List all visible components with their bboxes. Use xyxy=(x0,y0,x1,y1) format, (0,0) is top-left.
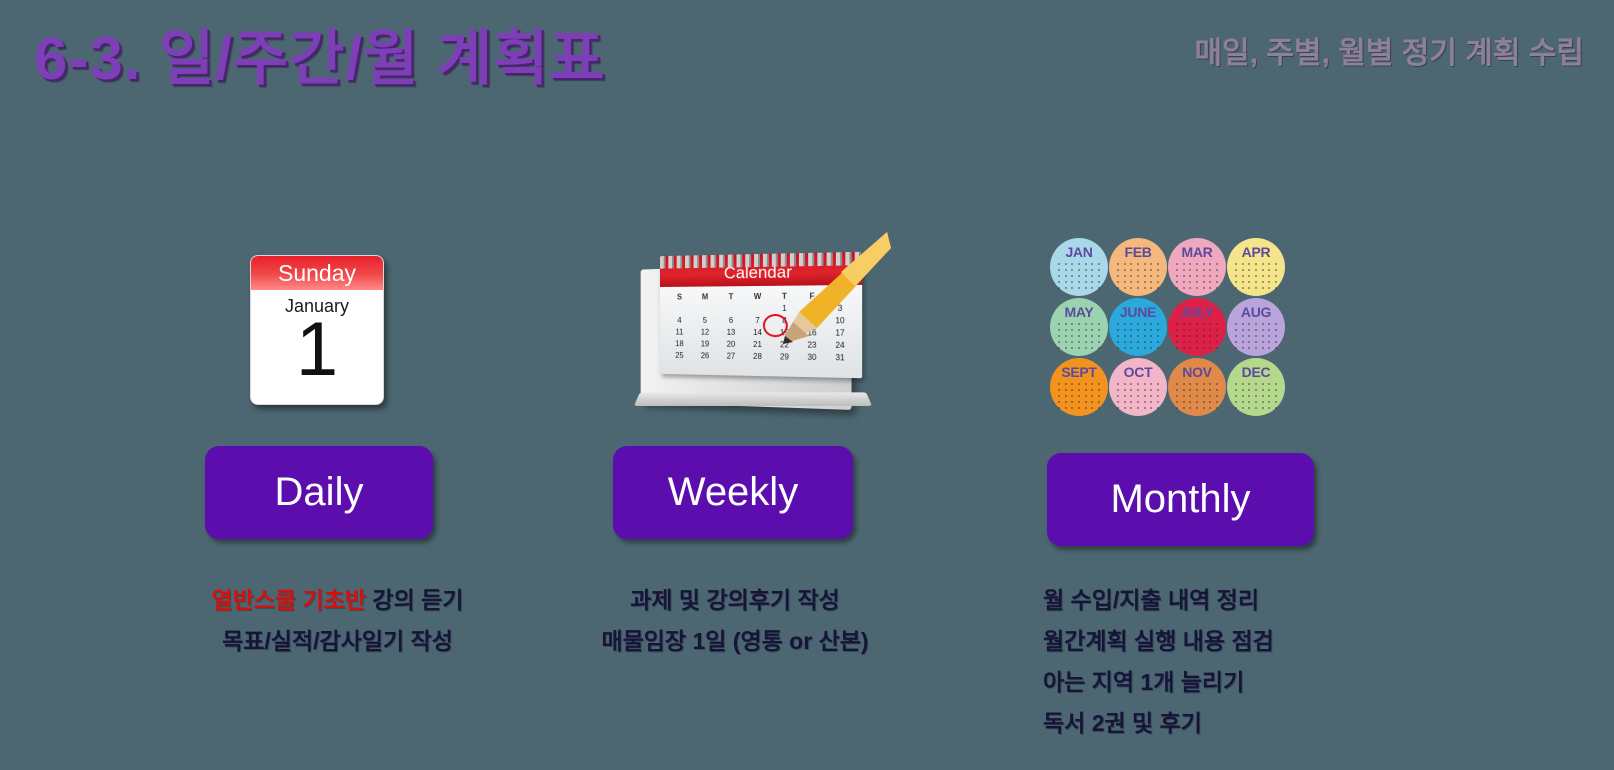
month-label: JUNE xyxy=(1120,305,1156,319)
calendar-date-cell xyxy=(669,304,689,313)
weekly-art-area: Calendar SMTWTFS 12345678910111213141516… xyxy=(590,230,920,415)
calendar-date-cell: 11 xyxy=(669,328,689,337)
note-line: 아는 지역 1개 늘리기 xyxy=(1043,662,1274,703)
calendar-date-cell xyxy=(720,304,741,313)
note-line: 과제 및 강의후기 작성 xyxy=(590,580,880,621)
month-date-dots xyxy=(1174,381,1220,411)
calendar-date-cell xyxy=(695,304,716,313)
calendar-date-cell: 12 xyxy=(695,328,716,337)
month-circle: DEC xyxy=(1227,358,1285,416)
month-label: OCT xyxy=(1124,365,1153,379)
pencil-icon xyxy=(763,232,891,350)
month-circle: JAN xyxy=(1050,238,1108,296)
monthly-notes: 월 수입/지출 내역 정리월간계획 실행 내용 점검아는 지역 1개 늘리기독서… xyxy=(1043,580,1274,744)
calendar-weekday-cell: S xyxy=(669,293,689,302)
calendar-date-cell: 4 xyxy=(669,316,689,325)
calendar-date-cell: 27 xyxy=(720,352,741,361)
month-label: FEB xyxy=(1124,245,1151,259)
month-label: MAY xyxy=(1065,305,1094,319)
month-date-dots xyxy=(1174,321,1220,351)
calendar-date-cell: 19 xyxy=(695,339,716,348)
month-label: JAN xyxy=(1065,245,1092,259)
daily-calendar-weekday: Sunday xyxy=(251,256,383,290)
month-date-dots xyxy=(1233,261,1279,291)
note-line: 목표/실적/감사일기 작성 xyxy=(205,621,470,662)
monthly-calendar-icon: JANFEBMARAPRMAYJUNEJULYAUGSEPTOCTNOVDEC xyxy=(1050,238,1285,416)
monthly-art-area: JANFEBMARAPRMAYJUNEJULYAUGSEPTOCTNOVDEC xyxy=(1020,230,1360,415)
month-circle: JULY xyxy=(1168,298,1226,356)
calendar-date-cell: 20 xyxy=(720,340,741,349)
daily-notes: 열반스쿨 기초반 강의 듣기목표/실적/감사일기 작성 xyxy=(205,580,470,662)
month-date-dots xyxy=(1115,261,1161,291)
monthly-button[interactable]: Monthly xyxy=(1047,453,1314,546)
month-date-dots xyxy=(1233,381,1279,411)
month-label: NOV xyxy=(1182,365,1211,379)
column-weekly: Calendar SMTWTFS 12345678910111213141516… xyxy=(590,230,920,415)
month-circle: MAY xyxy=(1050,298,1108,356)
note-line: 독서 2권 및 후기 xyxy=(1043,703,1274,744)
month-date-dots xyxy=(1056,381,1102,411)
calendar-date-cell: 28 xyxy=(747,352,769,361)
calendar-date-cell: 5 xyxy=(695,316,716,325)
month-circle: MAR xyxy=(1168,238,1226,296)
note-line: 열반스쿨 기초반 강의 듣기 xyxy=(205,580,470,621)
month-circle: AUG xyxy=(1227,298,1285,356)
calendar-date-cell: 18 xyxy=(669,339,689,348)
note-line: 월 수입/지출 내역 정리 xyxy=(1043,580,1274,621)
month-date-dots xyxy=(1056,321,1102,351)
month-date-dots xyxy=(1056,261,1102,291)
calendar-date-cell: 29 xyxy=(773,352,795,361)
column-monthly: JANFEBMARAPRMAYJUNEJULYAUGSEPTOCTNOVDEC xyxy=(1020,230,1360,415)
month-date-dots xyxy=(1174,261,1220,291)
calendar-base xyxy=(634,392,872,406)
month-circle: FEB xyxy=(1109,238,1167,296)
calendar-weekday-cell: M xyxy=(695,292,716,301)
calendar-date-cell: 31 xyxy=(829,353,852,363)
weekly-notes: 과제 및 강의후기 작성매물임장 1일 (영통 or 산본) xyxy=(590,580,880,662)
calendar-date-cell: 25 xyxy=(669,351,689,360)
column-daily: Sunday January 1 xyxy=(175,230,505,415)
month-label: DEC xyxy=(1242,365,1271,379)
month-circle: SEPT xyxy=(1050,358,1108,416)
daily-art-area: Sunday January 1 xyxy=(175,230,505,415)
note-highlight: 열반스쿨 기초반 xyxy=(212,587,367,613)
daily-calendar-day: 1 xyxy=(251,311,383,389)
month-label: APR xyxy=(1242,245,1271,259)
weekly-button[interactable]: Weekly xyxy=(613,446,853,539)
month-label: MAR xyxy=(1182,245,1213,259)
month-date-dots xyxy=(1233,321,1279,351)
page-title: 6-3. 일/주간/월 계획표 xyxy=(34,10,605,97)
calendar-date-cell: 13 xyxy=(720,328,741,337)
month-circle: NOV xyxy=(1168,358,1226,416)
note-line: 매물임장 1일 (영통 or 산본) xyxy=(590,621,880,662)
calendar-date-cell: 6 xyxy=(720,316,741,325)
month-label: SEPT xyxy=(1061,365,1096,379)
month-date-dots xyxy=(1115,321,1161,351)
calendar-weekday-cell: T xyxy=(720,292,741,301)
daily-button[interactable]: Daily xyxy=(205,446,433,539)
note-line: 월간계획 실행 내용 점검 xyxy=(1043,621,1274,662)
calendar-date-cell: 26 xyxy=(695,351,716,360)
month-date-dots xyxy=(1115,381,1161,411)
calendar-week-row: 25262728293031 xyxy=(669,351,851,363)
calendar-date-cell: 30 xyxy=(801,353,824,363)
month-circle: JUNE xyxy=(1109,298,1167,356)
month-label: AUG xyxy=(1241,305,1271,319)
page-subtitle: 매일, 주별, 월별 정기 계획 수립 xyxy=(1194,28,1584,72)
month-label: JULY xyxy=(1180,305,1213,319)
weekly-calendar-icon: Calendar SMTWTFS 12345678910111213141516… xyxy=(625,240,885,415)
month-circle: APR xyxy=(1227,238,1285,296)
daily-calendar-icon: Sunday January 1 xyxy=(250,255,384,405)
month-circle: OCT xyxy=(1109,358,1167,416)
